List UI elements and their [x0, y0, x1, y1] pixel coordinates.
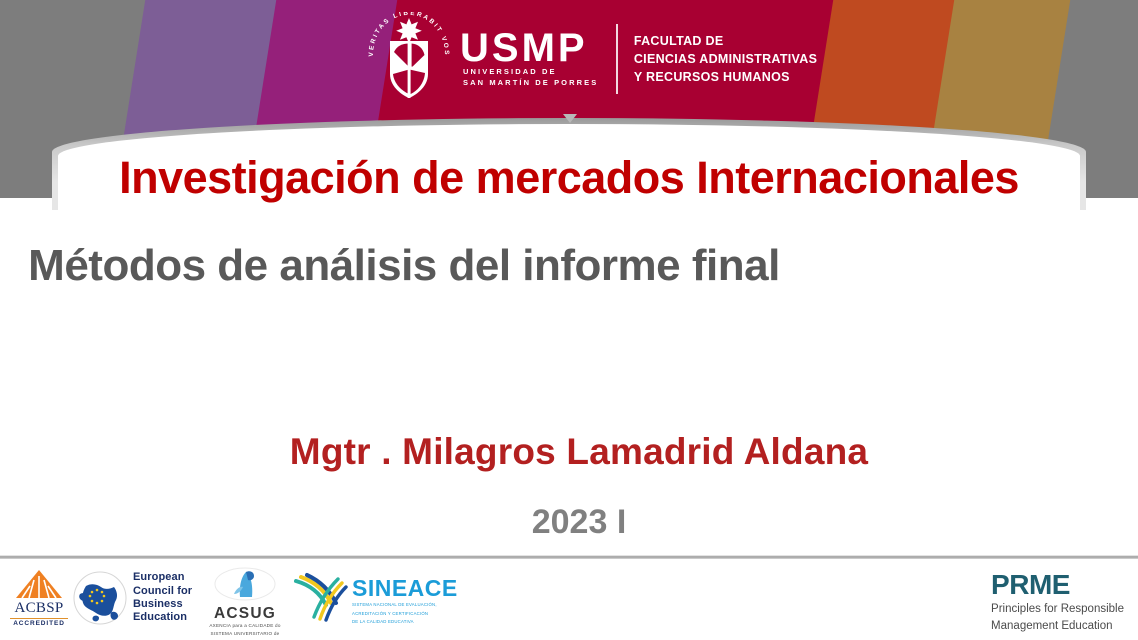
acbsp-flame-icon	[13, 569, 65, 599]
sineace-name: SINEACE	[352, 577, 458, 600]
accreditation-footer: ACBSP ACCREDITED	[0, 559, 1138, 640]
acbsp-logo: ACBSP ACCREDITED	[8, 569, 70, 627]
sineace-swoosh-icon	[292, 571, 348, 623]
usmp-wordmark: USMP	[460, 29, 598, 67]
usmp-subtitle-line2: SAN MARTÍN DE PORRES	[463, 78, 598, 89]
ecbe-line-2: Council for	[133, 585, 192, 598]
prme-subtitle-2: Management Education	[991, 619, 1124, 633]
acbsp-status: ACCREDITED	[8, 620, 70, 627]
acsug-subtitle-1: AXENCIA para a CALIDADE do	[196, 623, 294, 630]
ecbe-logo: European Council for Business Education	[72, 570, 192, 626]
ecbe-name-block: European Council for Business Education	[133, 571, 192, 625]
acsug-swirl-icon	[196, 567, 294, 601]
usmp-logo-lockup: VERITAS LIBERABIT VOS	[366, 12, 817, 106]
sineace-subtitle-1: SISTEMA NACIONAL DE EVALUACIÓN,	[352, 602, 452, 609]
faculty-line-3: Y RECURSOS HUMANOS	[634, 68, 817, 86]
presentation-slide: VERITAS LIBERABIT VOS	[0, 0, 1138, 640]
sineace-text-block: SINEACE SISTEMA NACIONAL DE EVALUACIÓN, …	[352, 571, 458, 626]
faculty-line-2: CIENCIAS ADMINISTRATIVAS	[634, 50, 817, 68]
acsug-logo: ACSUG AXENCIA para a CALIDADE do SISTEMA…	[196, 567, 294, 640]
ecbe-line-1: European	[133, 571, 192, 584]
slide-year: 2023 I	[0, 504, 1138, 541]
acbsp-name: ACBSP	[8, 600, 70, 617]
ecbe-line-3: Business	[133, 598, 192, 611]
sineace-subtitle-3: DE LA CALIDAD EDUCATIVA	[352, 619, 452, 626]
acbsp-rule	[10, 618, 68, 619]
sineace-logo: SINEACE SISTEMA NACIONAL DE EVALUACIÓN, …	[292, 571, 458, 626]
faculty-name-block: FACULTAD DE CIENCIAS ADMINISTRATIVAS Y R…	[634, 32, 817, 86]
slide-title: Investigación de mercados Internacionale…	[0, 154, 1138, 201]
sineace-subtitle-2: ACREDITACIÓN Y CERTIFICACIÓN	[352, 611, 452, 618]
banner-notch-icon	[563, 114, 577, 123]
slide-subtitle: Métodos de análisis del informe final	[0, 243, 1138, 289]
prme-subtitle-1: Principles for Responsible	[991, 602, 1124, 616]
prme-name: PRME	[991, 571, 1124, 599]
usmp-wordmark-block: USMP UNIVERSIDAD DE SAN MARTÍN DE PORRES	[460, 29, 598, 89]
usmp-shield-icon: VERITAS LIBERABIT VOS	[366, 12, 452, 106]
ecbe-globe-icon	[72, 570, 128, 626]
prme-logo: PRME Principles for Responsible Manageme…	[991, 571, 1124, 633]
ecbe-line-4: Education	[133, 611, 192, 624]
author-name: Mgtr . Milagros Lamadrid Aldana	[0, 432, 1138, 473]
faculty-line-1: FACULTAD DE	[634, 32, 817, 50]
acsug-name: ACSUG	[196, 606, 294, 622]
logo-divider	[616, 24, 618, 94]
acsug-subtitle-2: SISTEMA UNIVERSITARIO de	[196, 631, 294, 638]
